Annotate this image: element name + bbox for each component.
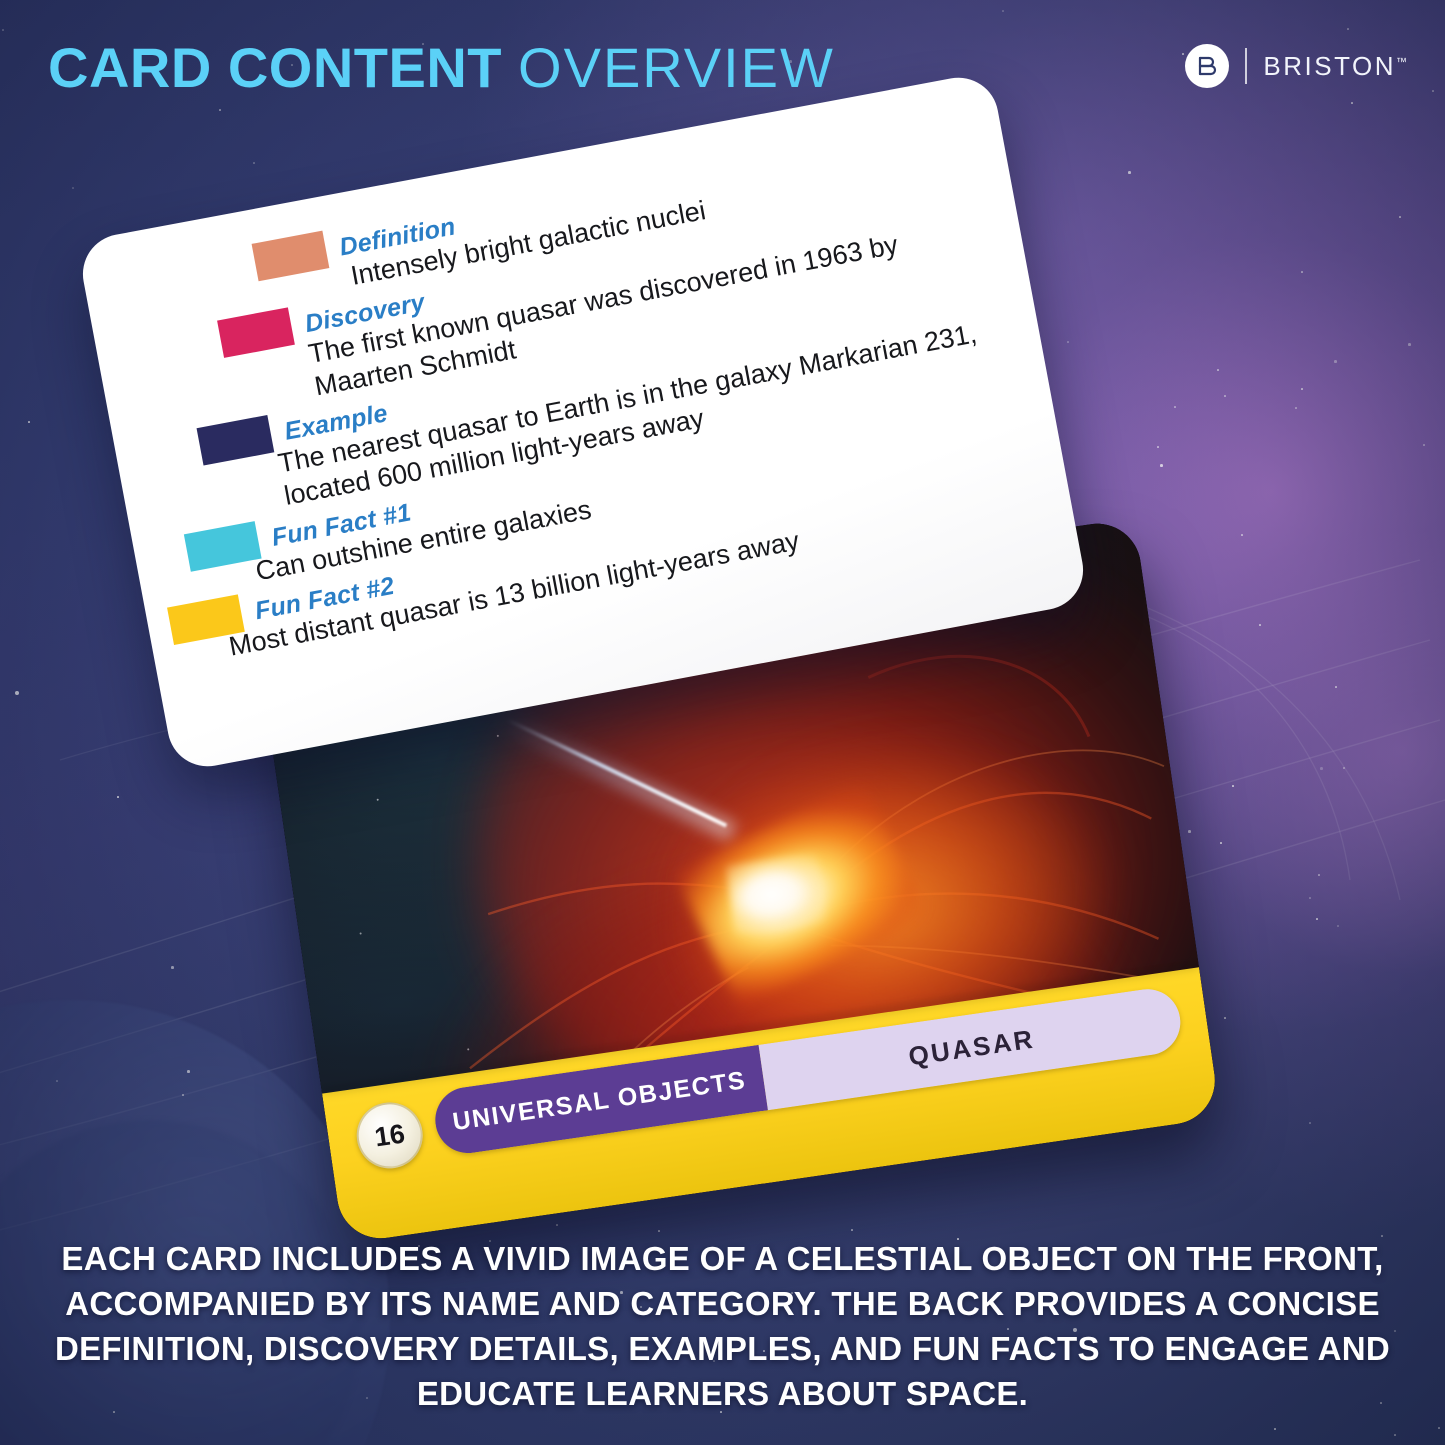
card-category-label: UNIVERSAL OBJECTS (451, 1066, 748, 1137)
discovery-swatch-icon (217, 307, 295, 358)
briston-b-circle-icon (1185, 44, 1229, 88)
page-title-bold: CARD CONTENT (48, 36, 502, 99)
footer-caption: EACH CARD INCLUDES A VIVID IMAGE OF A CE… (50, 1236, 1395, 1416)
quasar-core-center (726, 853, 827, 935)
definition-swatch-icon (252, 231, 330, 282)
brand-lockup: BRISTON™ (1185, 40, 1407, 92)
card-name-label: QUASAR (906, 1023, 1036, 1072)
fun-fact-1-swatch-icon (184, 521, 262, 572)
brand-trademark: ™ (1396, 56, 1407, 68)
card-number: 16 (373, 1118, 407, 1153)
example-swatch-icon (197, 415, 275, 466)
brand-divider (1245, 48, 1247, 84)
brand-name: BRISTON™ (1263, 51, 1407, 82)
brand-name-text: BRISTON (1263, 51, 1396, 81)
card-number-badge: 16 (352, 1098, 427, 1173)
page-title-light: OVERVIEW (518, 36, 835, 99)
poster-stage: CARD CONTENT OVERVIEW BRISTON™ (0, 0, 1445, 1445)
